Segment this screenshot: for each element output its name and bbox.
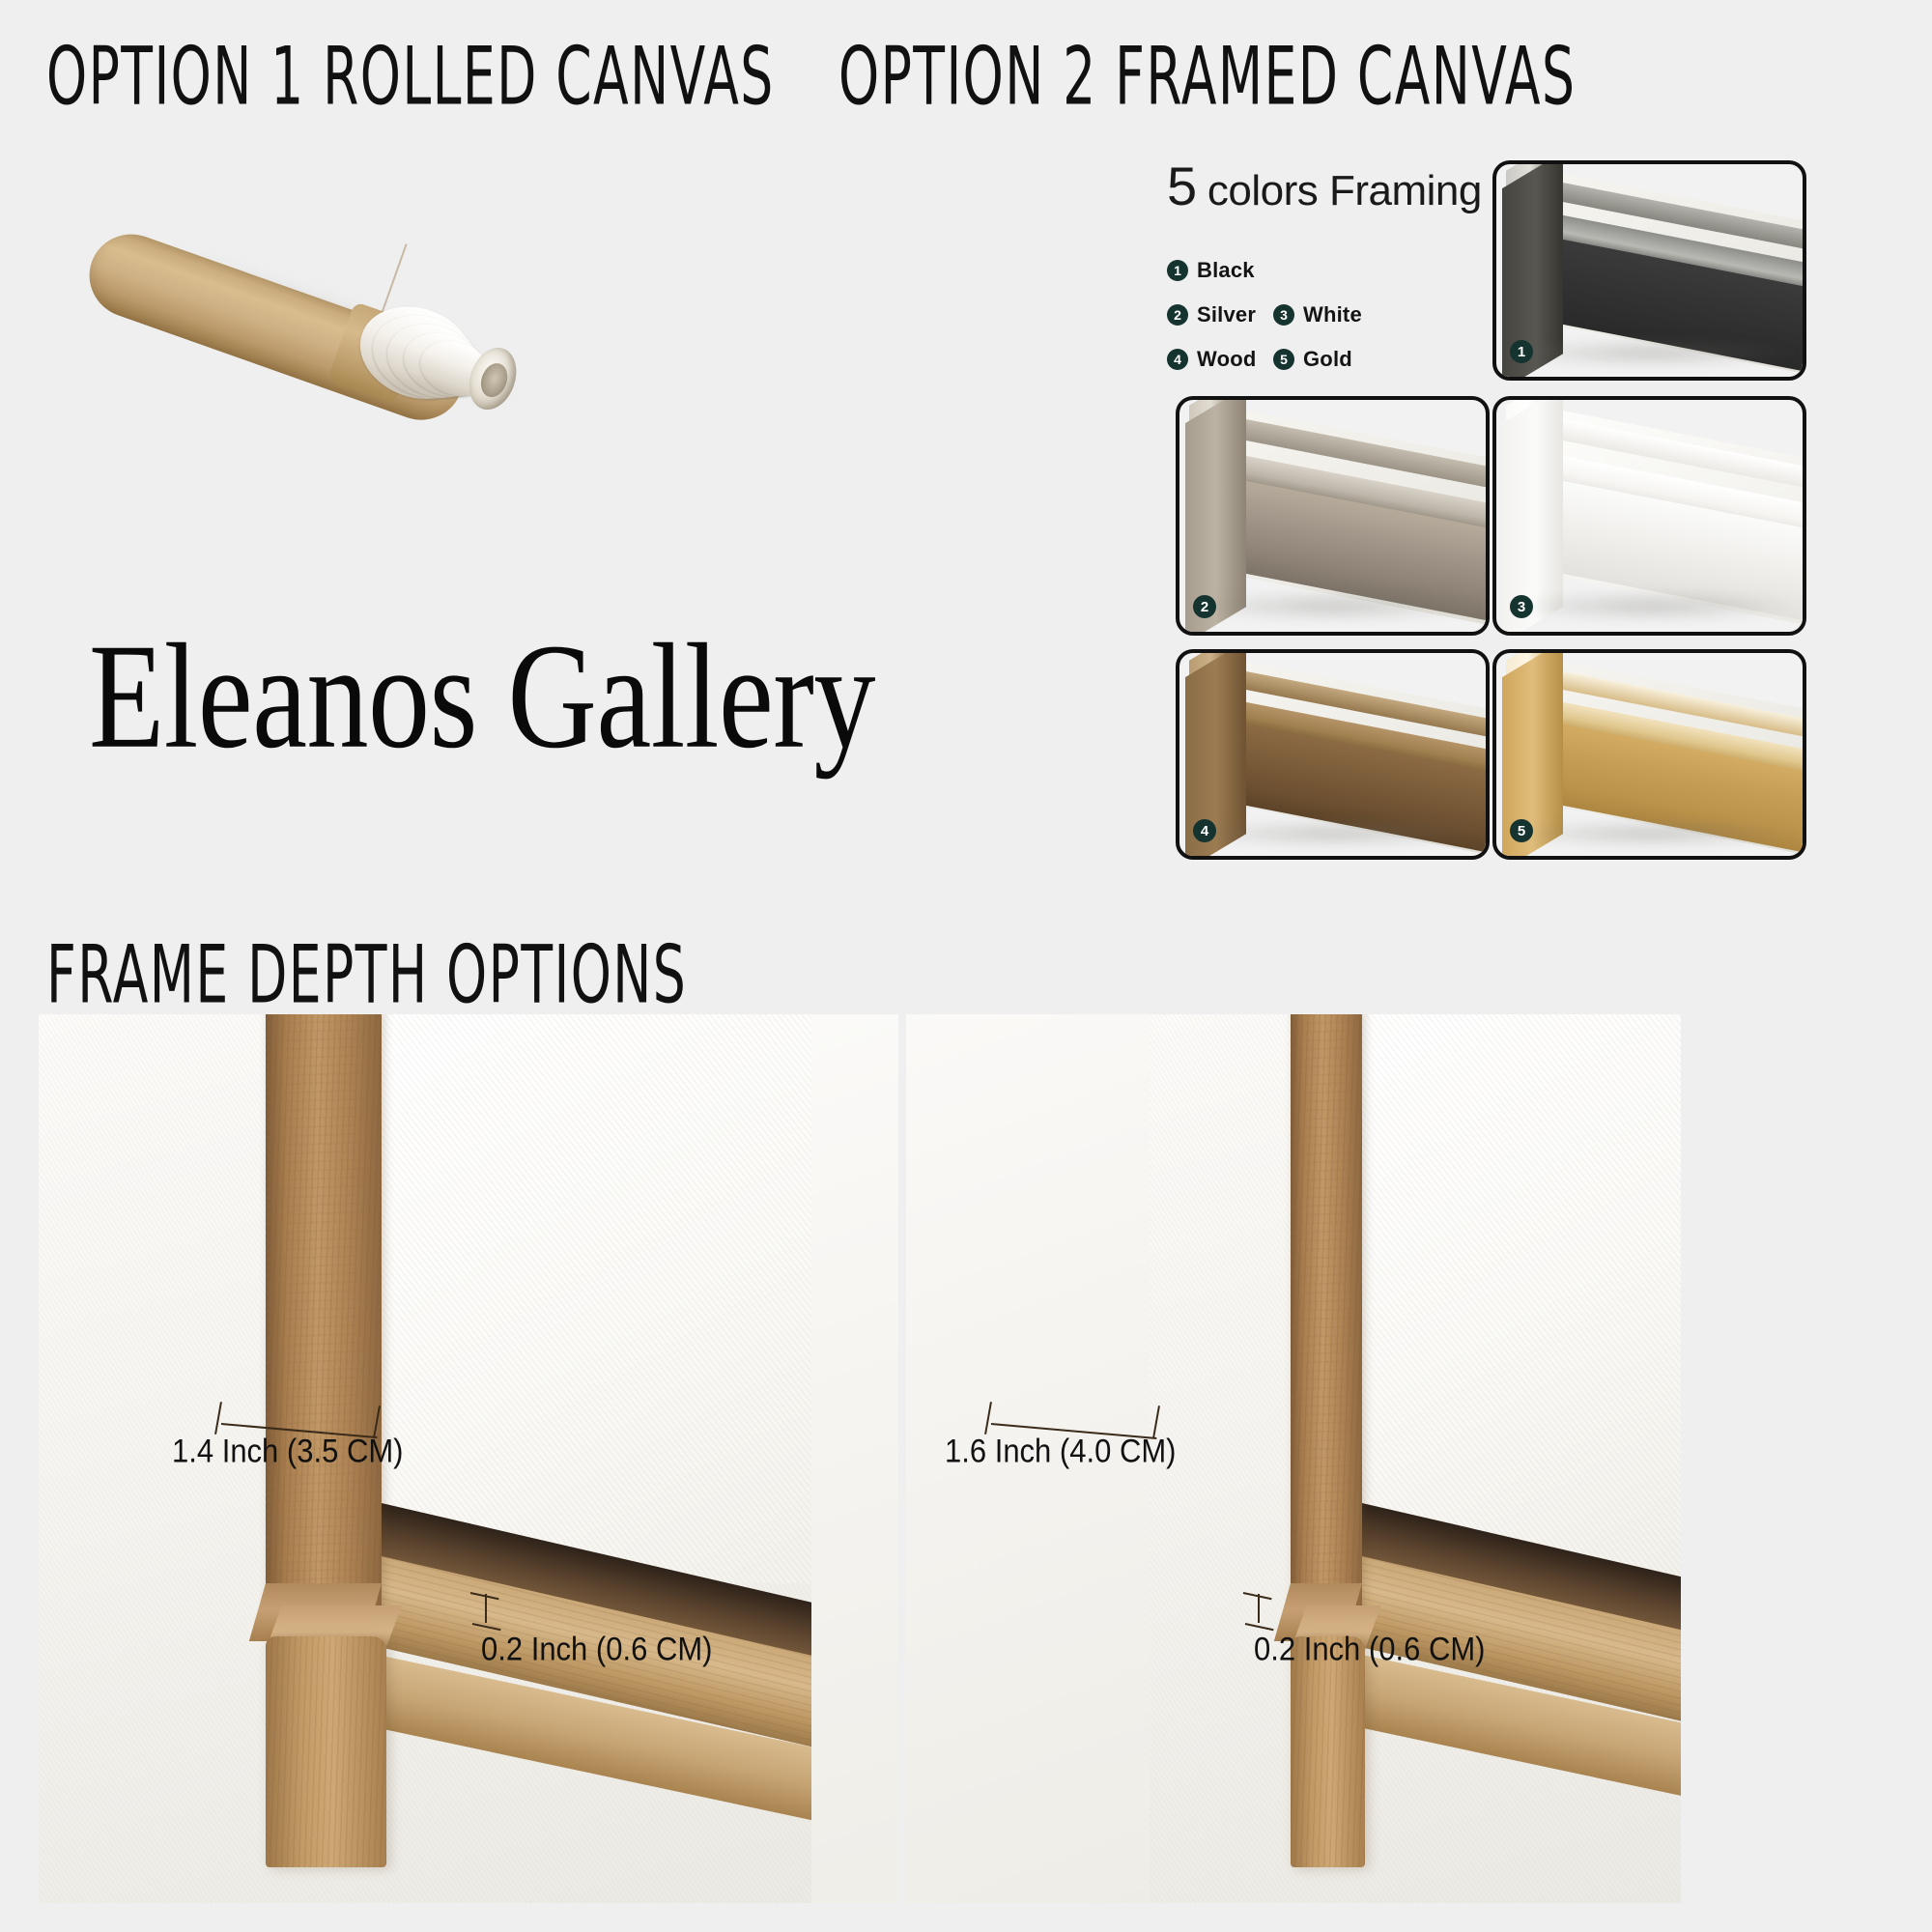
frame-depth-photo-standard — [39, 1014, 896, 1903]
framing-info-block: 5 colors Framing 1 Black 2 Silver 3 Whit… — [1167, 155, 1428, 372]
rolled-canvas-sheets — [346, 282, 526, 432]
legend-item-gold[interactable]: 5 Gold — [1273, 347, 1379, 372]
option2-heading: OPTION 2 FRAMED CANVAS — [838, 31, 1576, 124]
swatch-badge-icon: 2 — [1193, 595, 1216, 618]
legend-row: 1 Black — [1167, 258, 1428, 283]
frame-shadow — [1533, 590, 1797, 623]
frame-shadow — [1216, 819, 1480, 847]
depth-photo-inner — [39, 1014, 896, 1903]
legend-label: Silver — [1197, 302, 1256, 327]
legend-row: 4 Wood 5 Gold — [1167, 347, 1428, 372]
frame-depth-photo-deep — [811, 1014, 1681, 1903]
badge-number-icon: 4 — [1167, 349, 1188, 370]
frame-swatch-gold[interactable]: 5 — [1492, 649, 1806, 860]
depth-photo-inner — [1150, 1014, 1681, 1903]
frame-color-legend: 1 Black 2 Silver 3 White 4 Wood 5 Gold — [1167, 258, 1428, 372]
brand-wordmark: Eleanos Gallery — [89, 609, 875, 783]
frame-shadow — [1533, 338, 1797, 368]
frame-corner-photo — [1496, 400, 1803, 632]
framing-title: 5 colors Framing — [1167, 155, 1428, 217]
frame-corner-photo — [1496, 653, 1803, 856]
legend-item-white[interactable]: 3 White — [1273, 302, 1379, 327]
option1-heading: OPTION 1 ROLLED CANVAS — [46, 31, 775, 124]
swatch-badge-icon: 3 — [1510, 595, 1533, 618]
thickness-dimension-label-standard: 0.2 Inch (0.6 CM) — [481, 1630, 712, 1668]
rolled-canvas-image — [72, 145, 594, 435]
thickness-dimension-label-deep: 0.2 Inch (0.6 CM) — [1254, 1630, 1485, 1668]
frame-corner-photo — [1496, 164, 1803, 377]
framing-title-text: colors Framing — [1196, 167, 1482, 214]
frame-corner-block — [266, 1636, 385, 1867]
legend-label: Black — [1197, 258, 1255, 283]
width-dimension-label-deep: 1.6 Inch (4.0 CM) — [945, 1432, 1176, 1470]
thickness-dimension-line-standard — [470, 1592, 503, 1631]
badge-number-icon: 5 — [1273, 349, 1294, 370]
frame-swatch-white[interactable]: 3 — [1492, 396, 1806, 636]
frame-shadow — [1533, 819, 1797, 847]
badge-number-icon: 3 — [1273, 304, 1294, 326]
frame-corner-photo — [1179, 400, 1486, 632]
swatch-badge-icon: 1 — [1510, 340, 1533, 363]
swatch-badge-icon: 4 — [1193, 819, 1216, 842]
frame-vertical-rail — [266, 1014, 382, 1619]
badge-number-icon: 1 — [1167, 260, 1188, 281]
legend-item-wood[interactable]: 4 Wood — [1167, 347, 1273, 372]
frame-vertical-rail — [1291, 1014, 1362, 1619]
frame-swatch-silver[interactable]: 2 — [1176, 396, 1490, 636]
swatch-badge-icon: 5 — [1510, 819, 1533, 842]
frame-corner-block — [1291, 1636, 1365, 1867]
badge-number-icon: 2 — [1167, 304, 1188, 326]
legend-row: 2 Silver 3 White — [1167, 302, 1428, 327]
framing-count: 5 — [1167, 156, 1196, 216]
frame-depth-heading: FRAME DEPTH OPTIONS — [46, 929, 687, 1022]
frame-corner-photo — [1179, 653, 1486, 856]
legend-label: White — [1303, 302, 1362, 327]
frame-swatch-wood[interactable]: 4 — [1176, 649, 1490, 860]
legend-label: Wood — [1197, 347, 1256, 372]
legend-item-black[interactable]: 1 Black — [1167, 258, 1273, 283]
frame-shadow — [1216, 590, 1480, 623]
stretched-canvas-face — [1362, 1014, 1681, 1583]
legend-item-silver[interactable]: 2 Silver — [1167, 302, 1273, 327]
thickness-dimension-line-deep — [1243, 1592, 1276, 1631]
panel-divider — [898, 1014, 906, 1903]
legend-label: Gold — [1303, 347, 1352, 372]
frame-swatch-black[interactable]: 1 — [1492, 160, 1806, 381]
width-dimension-label-standard: 1.4 Inch (3.5 CM) — [172, 1432, 403, 1470]
